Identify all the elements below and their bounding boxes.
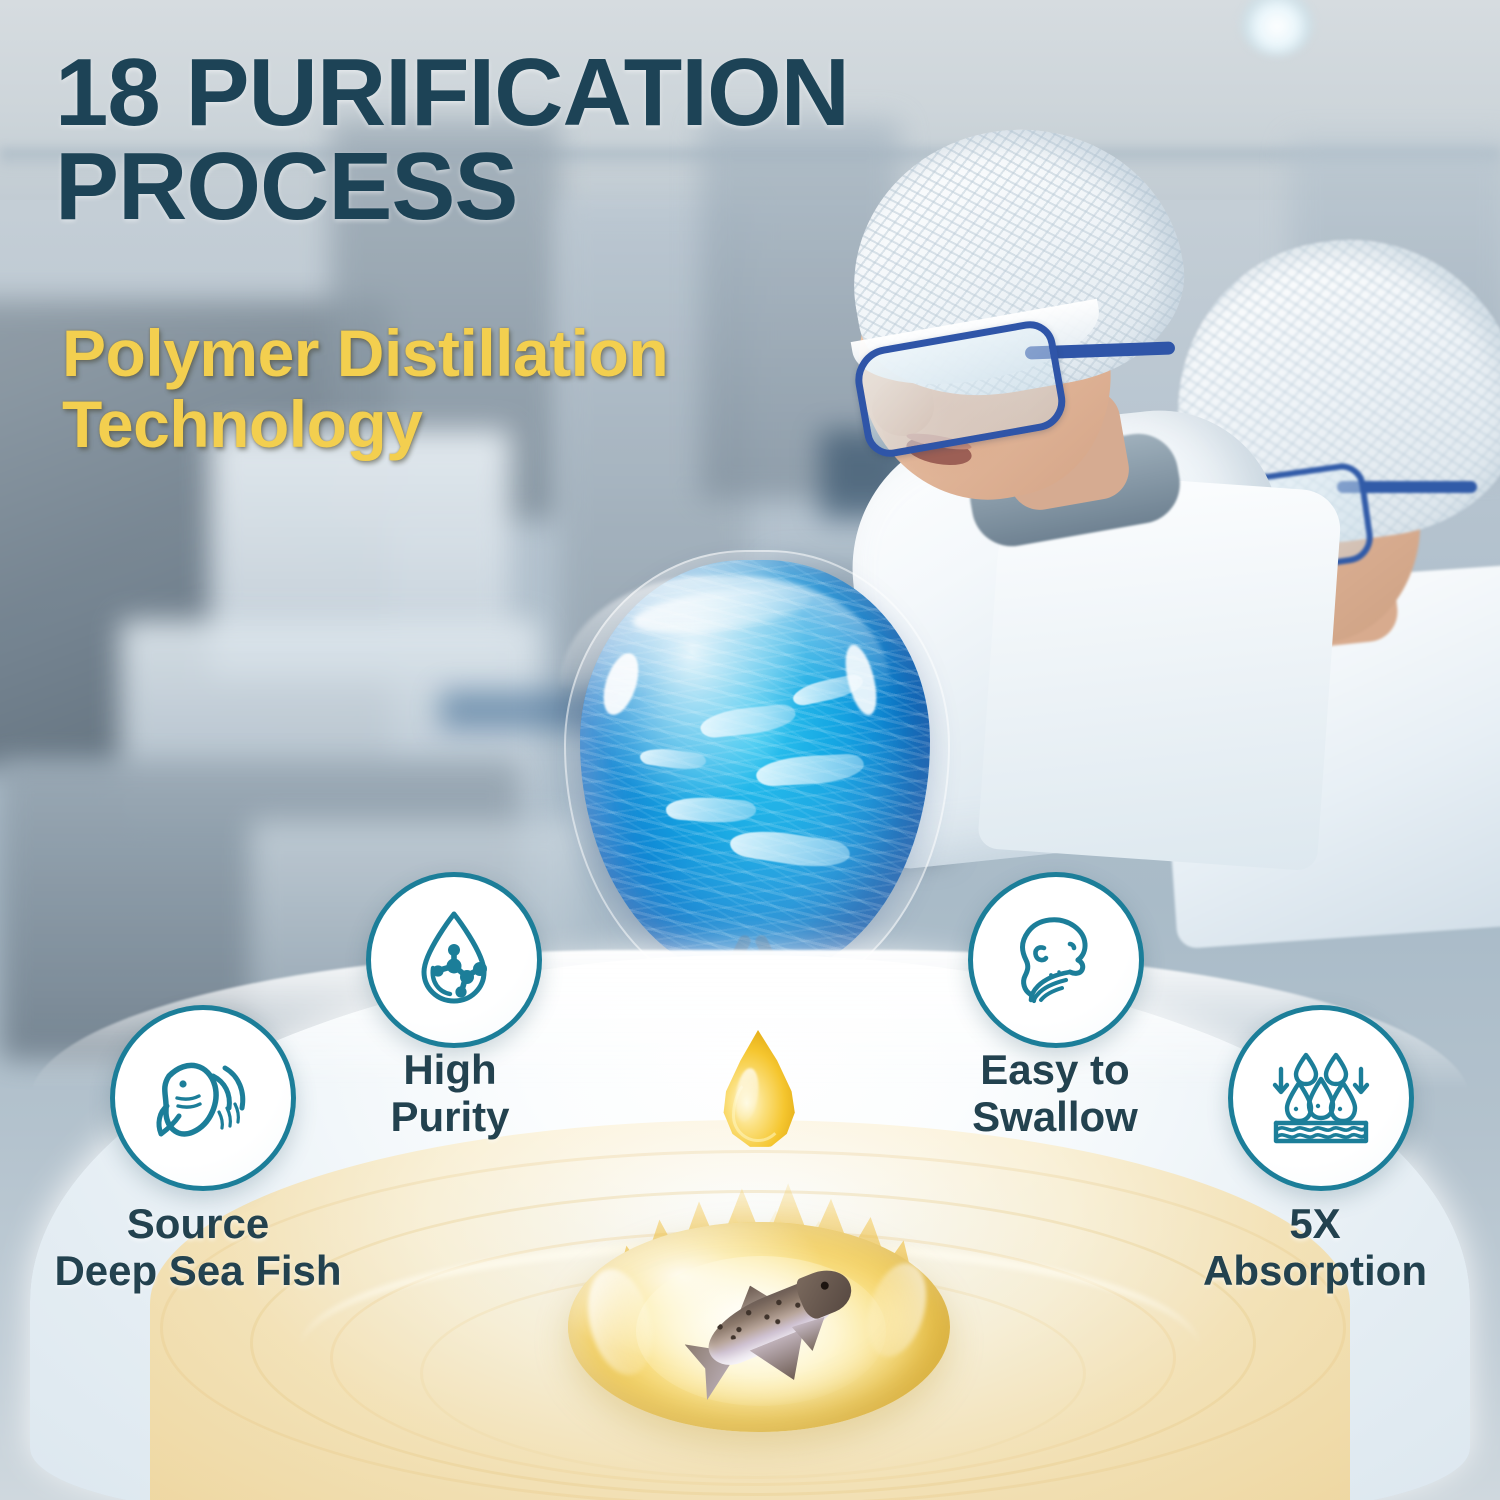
headline-line-1: 18 PURIFICATION (55, 39, 849, 146)
feature-label: Easy to Swallow (930, 1046, 1180, 1140)
feature-icon-circle[interactable] (1228, 1005, 1414, 1191)
page-subtitle: Polymer Distillation Technology (62, 318, 962, 461)
feature-icon-circle[interactable] (110, 1005, 296, 1191)
oil-drop-group (520, 560, 990, 1220)
feature-icon-circle[interactable] (366, 872, 542, 1048)
product-infographic: 18 PURIFICATION PROCESS Polymer Distilla… (0, 0, 1500, 1500)
feature-label: High Purity (330, 1046, 570, 1140)
feature-icon-circle[interactable] (968, 872, 1144, 1048)
feature-label: Source Deep Sea Fish (20, 1200, 376, 1294)
feature-label: 5X Absorption (1130, 1200, 1500, 1294)
water-drop-molecule-icon (402, 908, 506, 1012)
subheadline-line-2: Technology (62, 389, 962, 460)
fish-icon (147, 1042, 259, 1154)
head-swallow-icon (1004, 908, 1108, 1012)
subheadline-line-1: Polymer Distillation (62, 316, 668, 390)
headline-line-2: PROCESS (55, 140, 1155, 234)
page-title: 18 PURIFICATION PROCESS (55, 46, 1155, 234)
absorption-droplets-icon (1262, 1039, 1380, 1157)
